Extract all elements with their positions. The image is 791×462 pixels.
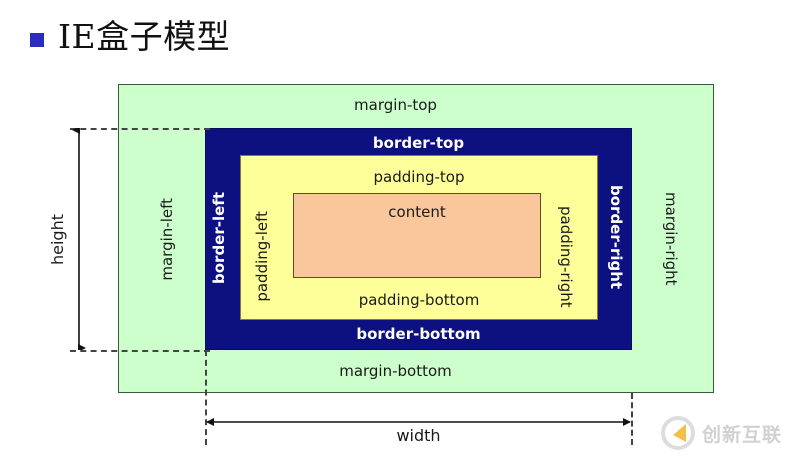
label-border-left: border-left <box>210 155 228 320</box>
label-padding-top: padding-top <box>240 168 598 186</box>
label-margin-left-text: margin-left <box>158 198 176 281</box>
label-margin-right: margin-right <box>662 128 680 350</box>
label-margin-bottom: margin-bottom <box>0 362 791 380</box>
label-padding-right-text: padding-right <box>557 206 575 308</box>
label-border-right: border-right <box>607 155 625 320</box>
label-padding-bottom: padding-bottom <box>240 291 598 309</box>
guide-line-bottom <box>70 350 210 352</box>
label-margin-top: margin-top <box>0 96 791 114</box>
label-width: width <box>205 426 632 445</box>
label-content: content <box>293 203 541 221</box>
label-padding-left: padding-left <box>253 193 271 320</box>
label-border-right-text: border-right <box>607 185 625 289</box>
watermark-text: 创新互联 <box>702 420 782 447</box>
ie-box-model-diagram: margin-top margin-bottom border-top bord… <box>0 0 791 462</box>
label-border-bottom: border-bottom <box>205 325 632 343</box>
label-margin-right-text: margin-right <box>662 192 680 286</box>
label-padding-right: padding-right <box>557 193 575 320</box>
watermark: 创新互联 <box>660 412 785 454</box>
label-height-text: height <box>48 214 67 265</box>
height-dimension-arrow <box>72 128 86 350</box>
label-padding-left-text: padding-left <box>253 211 271 302</box>
label-border-left-text: border-left <box>210 192 228 284</box>
label-border-top: border-top <box>205 134 632 152</box>
label-margin-left: margin-left <box>158 128 176 350</box>
label-height: height <box>48 128 67 350</box>
brand-logo-icon <box>660 415 696 451</box>
guide-line-top <box>70 128 210 130</box>
